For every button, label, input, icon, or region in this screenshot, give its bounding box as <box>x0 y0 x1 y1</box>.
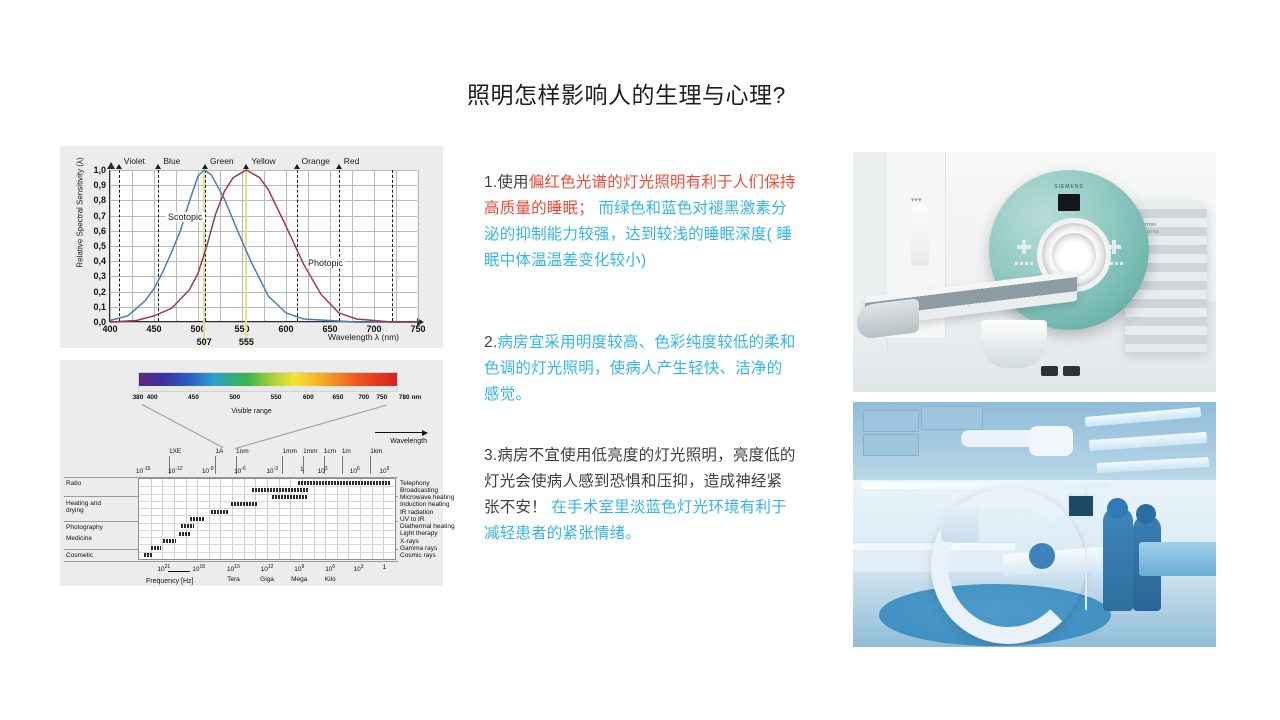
scale-marker-label: 1mm <box>282 448 296 455</box>
application-label: Broadcasting <box>400 487 438 494</box>
spectrum-nm-tick: 600 <box>303 394 314 401</box>
y-axis-tick: 0,7 <box>93 211 106 221</box>
frequency-tick: 103 <box>354 564 364 573</box>
photo-ct-scanner: ▾▾▾ SOMATOMDefinition AS SIEMENS <box>853 152 1216 392</box>
application-band-bar <box>181 524 194 528</box>
or-ceiling-tile <box>921 406 983 430</box>
ct-foot-pedal[interactable] <box>1041 366 1058 376</box>
application-label: Telephony <box>400 480 430 487</box>
series-label-photopic: Photopic <box>306 258 345 268</box>
ct-hook-icon: ▾▾▾ <box>911 196 931 202</box>
scale-marker-label: 1cm <box>324 448 336 455</box>
frequency-decade-name: Kilo <box>325 576 336 583</box>
frequency-tick: 1015 <box>227 564 240 573</box>
text-run-blue: 病房宜采用明度较高、色彩纯度较低的柔和色调的灯光照明，使病人产生轻快、洁净的感觉… <box>484 334 796 403</box>
frequency-decade-name: Giga <box>260 576 274 583</box>
color-band-label: Green <box>210 156 234 166</box>
x-axis-tick: 600 <box>278 324 293 334</box>
table-gridline <box>244 479 245 559</box>
scale-marker-tick <box>215 456 216 474</box>
or-instrument-table <box>1139 542 1216 576</box>
table-gridline <box>139 544 395 545</box>
scale-marker-tick <box>342 456 343 474</box>
curve-layer <box>110 170 418 322</box>
table-gridline <box>372 479 373 559</box>
band-marker-icon <box>202 164 208 169</box>
peak-marker-label: 507 <box>197 337 212 347</box>
y-axis-tick: 0,9 <box>93 180 106 190</box>
wavelength-exponent: 10-9 <box>202 466 214 475</box>
scale-marker-label: 1km <box>370 448 382 455</box>
table-gridline <box>186 479 187 559</box>
application-label: Diathermal heating <box>400 523 455 530</box>
visible-range-label: Visible range <box>60 408 443 415</box>
application-band-bar <box>231 502 257 506</box>
ct-brand-label: SIEMENS <box>1054 184 1084 190</box>
spectrum-nm-tick: 750 <box>376 394 387 401</box>
paragraph-index: 1. <box>484 174 497 191</box>
or-ceiling-tile <box>863 434 919 456</box>
table-gridline <box>348 479 349 559</box>
table-gridline <box>139 501 395 502</box>
table-gridline <box>209 479 210 559</box>
scale-marker-label: 1XE <box>169 448 181 455</box>
category-label: Heating and drying <box>66 500 101 515</box>
or-surgeon-head <box>1136 504 1156 524</box>
slide-root: 照明怎样影响人的生理与心理? Relative Spectral Sensiti… <box>0 0 1280 720</box>
table-gridline <box>139 515 395 516</box>
frequency-tick: 1 <box>383 564 387 571</box>
ct-floor <box>853 332 1216 392</box>
y-axis-tick: 0,5 <box>93 241 106 251</box>
table-gridline <box>383 479 384 559</box>
spectrum-nm-tick: 780 nm <box>399 394 421 401</box>
table-gridline <box>139 530 395 531</box>
y-axis-arrow-icon <box>107 162 115 169</box>
spectral-chart: Relative Spectral Sensitivity (λ) 0,00,1… <box>60 146 443 348</box>
color-band-label: Violet <box>124 156 145 166</box>
y-axis-tick: 0,8 <box>93 195 106 205</box>
or-monitor <box>1067 494 1095 518</box>
y-axis-tick: 0,4 <box>93 256 106 266</box>
table-gridline <box>139 508 395 509</box>
frequency-tick: 1012 <box>261 564 274 573</box>
band-marker-icon <box>155 164 161 169</box>
figure-electromagnetic-spectrum: Visible range Wavelength 380400450500550… <box>60 360 443 586</box>
category-label: Ratio <box>66 480 81 487</box>
wavelength-exponent: 109 <box>379 466 389 475</box>
spectrum-nm-tick: 500 <box>229 394 240 401</box>
scale-marker-label: 1nm <box>236 448 249 455</box>
application-band-bar <box>298 481 390 485</box>
curve-scotopic <box>110 170 418 322</box>
spectrum-nm-tick: 380 <box>133 394 144 401</box>
application-band-bar <box>163 539 176 543</box>
wavelength-exponent: 1 <box>300 466 304 473</box>
frequency-tick: 1018 <box>192 564 205 573</box>
figure-spectral-sensitivity: Relative Spectral Sensitivity (λ) 0,00,1… <box>60 146 443 348</box>
application-label: Light therapy <box>400 530 438 537</box>
y-axis-tick: 0,6 <box>93 226 106 236</box>
table-gridline <box>360 479 361 559</box>
application-label: Gamma rays <box>400 545 437 552</box>
application-band-bar <box>179 532 191 536</box>
spectrum-nm-tick: 700 <box>358 394 369 401</box>
application-label: UV to IR <box>400 516 425 523</box>
or-carm-detector <box>941 506 979 542</box>
application-label: IR radiation <box>400 509 433 516</box>
photo-operating-room <box>853 402 1216 647</box>
color-band-label: Blue <box>163 156 180 166</box>
scale-marker-tick <box>370 456 371 474</box>
frequency-arrow-icon <box>168 571 190 572</box>
text-run-dark: 使用 <box>497 174 528 191</box>
paragraph-index: 3. <box>484 447 497 464</box>
plot-area: 0,00,10,20,30,40,50,60,70,80,91,04004505… <box>109 170 417 322</box>
category-label: Cosmetic <box>66 552 93 559</box>
frequency-tick: 109 <box>294 564 304 573</box>
em-band-table <box>138 478 396 560</box>
frequency-axis-label: Frequency [Hz] <box>146 578 193 585</box>
or-cove-lighting <box>861 482 1111 489</box>
page-title: 照明怎样影响人的生理与心理? <box>467 76 786 110</box>
x-axis-tick: 750 <box>410 324 425 334</box>
wavelength-exponent: 10-6 <box>234 466 246 475</box>
ct-gown <box>911 204 929 266</box>
table-gridline <box>139 523 395 524</box>
y-axis-tick: 0,3 <box>93 271 106 281</box>
color-band-label: Orange <box>302 156 330 166</box>
category-label: Medicine <box>66 535 92 542</box>
paragraph-1: 1.使用偏红色光谱的灯光照明有利于人们保持高质量的睡眠； 而绿色和蓝色对褪黑激素… <box>484 170 796 274</box>
application-band-bar <box>252 488 308 492</box>
frequency-tick: 106 <box>325 564 335 573</box>
table-gridline <box>314 479 315 559</box>
application-label: X-rays <box>400 538 419 545</box>
application-label: Cosmic rays <box>400 552 436 559</box>
spectrum-scale-strip <box>138 386 398 392</box>
or-carm-mount <box>1029 426 1073 456</box>
or-ceiling-tile <box>863 410 919 432</box>
table-gridline <box>337 479 338 559</box>
gridline-vertical <box>418 170 419 321</box>
wavelength-exponent: 10-3 <box>266 466 278 475</box>
scale-marker-label: 1m <box>342 448 351 455</box>
category-separator <box>64 561 398 562</box>
application-band-bar <box>190 517 204 521</box>
or-surgeon <box>1103 507 1133 611</box>
scale-marker-label: 1A <box>215 448 223 455</box>
paragraph-index: 2. <box>484 334 497 351</box>
wavelength-exponent: 10-15 <box>136 466 150 475</box>
spectrum-nm-tick: 450 <box>188 394 199 401</box>
y-axis-tick: 1,0 <box>93 165 106 175</box>
spectrum-nm-tick: 400 <box>147 394 158 401</box>
spectrum-nm-tick: 650 <box>333 394 344 401</box>
y-axis-label: Relative Spectral Sensitivity (λ) <box>76 138 85 288</box>
scale-marker-tick <box>282 456 283 474</box>
paragraph-3: 3.病房不宜使用低亮度的灯光照明，亮度低的灯光会使病人感到恐惧和压抑，造成神经紧… <box>484 443 796 547</box>
wavelength-exponent: 10-12 <box>168 466 182 475</box>
spectrum-nm-tick: 550 <box>271 394 282 401</box>
table-gridline <box>220 479 221 559</box>
frequency-decade-name: Tera <box>227 576 240 583</box>
application-label: Induction heating <box>400 501 450 508</box>
or-assistant-head <box>1029 543 1055 569</box>
peak-marker-label: 555 <box>239 337 254 347</box>
band-marker-icon <box>243 164 249 169</box>
ct-display-panel[interactable] <box>1058 194 1080 211</box>
color-band-label: Yellow <box>251 156 275 166</box>
table-gridline <box>232 479 233 559</box>
y-axis-tick: 0,1 <box>93 302 106 312</box>
band-marker-icon <box>294 164 300 169</box>
application-band-bar <box>144 553 153 557</box>
ct-indicator-dots-icon <box>1015 262 1033 265</box>
band-marker-icon <box>336 164 342 169</box>
x-axis-tick: 450 <box>146 324 161 334</box>
application-band-bar <box>211 510 229 514</box>
table-gridline <box>162 479 163 559</box>
ct-control-pad-icon[interactable] <box>1017 240 1031 254</box>
paragraph-2: 2.病房宜采用明度较高、色彩纯度较低的柔和色调的灯光照明，使病人产生轻快、洁净的… <box>484 330 796 408</box>
scale-marker-label: 1mm <box>303 448 317 455</box>
wavelength-exponent: 106 <box>350 466 360 475</box>
wavelength-exponent: 103 <box>317 466 327 475</box>
ct-foot-pedal[interactable] <box>1063 366 1080 376</box>
or-surgeon-head <box>1107 498 1128 519</box>
x-axis-label: Wavelength λ (nm) <box>328 332 399 342</box>
band-marker-icon <box>116 164 122 169</box>
color-band-label: Red <box>344 156 360 166</box>
table-gridline <box>139 537 395 538</box>
curve-photopic <box>110 170 418 322</box>
wavelength-arrow-icon <box>375 432 427 433</box>
application-band-bar <box>151 546 161 550</box>
x-axis-tick: 400 <box>102 324 117 334</box>
table-gridline <box>174 479 175 559</box>
table-gridline <box>325 479 326 559</box>
application-label: Microwave heating <box>400 494 454 501</box>
y-axis-tick: 0,2 <box>93 287 106 297</box>
category-label: Photography <box>66 524 103 531</box>
frequency-decade-name: Mega <box>291 576 307 583</box>
wavelength-axis-label: Wavelength <box>390 438 427 445</box>
application-band-bar <box>272 495 308 499</box>
table-gridline <box>139 494 395 495</box>
table-gridline <box>139 552 395 553</box>
series-label-scotopic: Scotopic <box>166 212 205 222</box>
